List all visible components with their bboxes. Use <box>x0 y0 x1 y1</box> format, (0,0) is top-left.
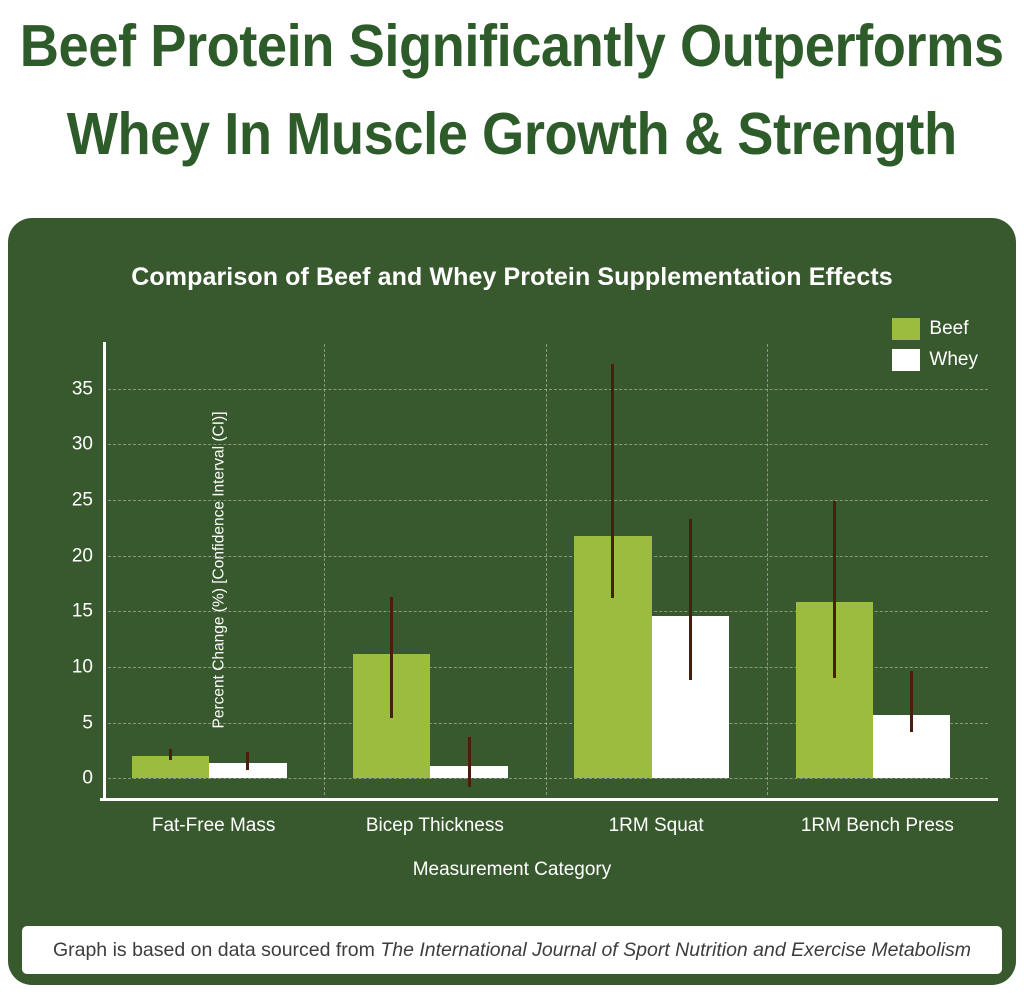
y-axis-tick-label: 10 <box>72 657 93 676</box>
gridline-vertical <box>324 344 325 795</box>
infographic-page: Beef Protein Significantly Outperforms W… <box>0 0 1024 997</box>
y-axis-tick-label: 15 <box>72 602 93 621</box>
headline-line-1: Beef Protein Significantly Outperforms <box>20 2 1004 90</box>
source-text: Graph is based on data sourced from The … <box>53 939 971 962</box>
y-axis-tick-label: 20 <box>72 546 93 565</box>
x-axis-tick-label: 1RM Squat <box>609 815 704 837</box>
error-bar-beef-3 <box>833 501 836 678</box>
error-bar-whey-2 <box>689 519 692 680</box>
error-bar-whey-1 <box>468 737 471 787</box>
error-bar-beef-0 <box>169 749 172 760</box>
y-axis-tick-label: 30 <box>72 435 93 454</box>
journal-name: The International Journal of Sport Nutri… <box>380 939 971 961</box>
x-axis-tick-label: 1RM Bench Press <box>801 815 954 837</box>
y-axis-tick-label: 35 <box>72 379 93 398</box>
plot-wrapper: Percent Change (%) [Confidence Interval … <box>8 218 1016 985</box>
x-axis-line <box>100 798 998 801</box>
y-axis-tick-label: 25 <box>72 490 93 509</box>
y-axis-tick-label: 0 <box>82 769 93 788</box>
error-bar-beef-1 <box>390 597 393 718</box>
x-axis-tick-label: Bicep Thickness <box>366 815 504 837</box>
y-axis-label: Percent Change (%) [Confidence Interval … <box>211 411 229 728</box>
headline: Beef Protein Significantly Outperforms W… <box>0 0 1024 200</box>
source-prefix: Graph is based on data sourced from <box>53 939 380 961</box>
chart-card: Comparison of Beef and Whey Protein Supp… <box>8 218 1016 985</box>
error-bar-beef-2 <box>611 364 614 598</box>
plot-area: Percent Change (%) [Confidence Interval … <box>103 344 988 795</box>
x-axis-label: Measurement Category <box>8 859 1016 881</box>
error-bar-whey-0 <box>246 752 249 771</box>
y-axis-tick-label: 5 <box>82 713 93 732</box>
headline-line-2: Whey In Muscle Growth & Strength <box>67 90 957 178</box>
x-axis-tick-label: Fat-Free Mass <box>152 815 276 837</box>
source-footer: Graph is based on data sourced from The … <box>22 926 1002 974</box>
error-bar-whey-3 <box>910 671 913 731</box>
gridline-vertical <box>546 344 547 795</box>
gridline-vertical <box>767 344 768 795</box>
